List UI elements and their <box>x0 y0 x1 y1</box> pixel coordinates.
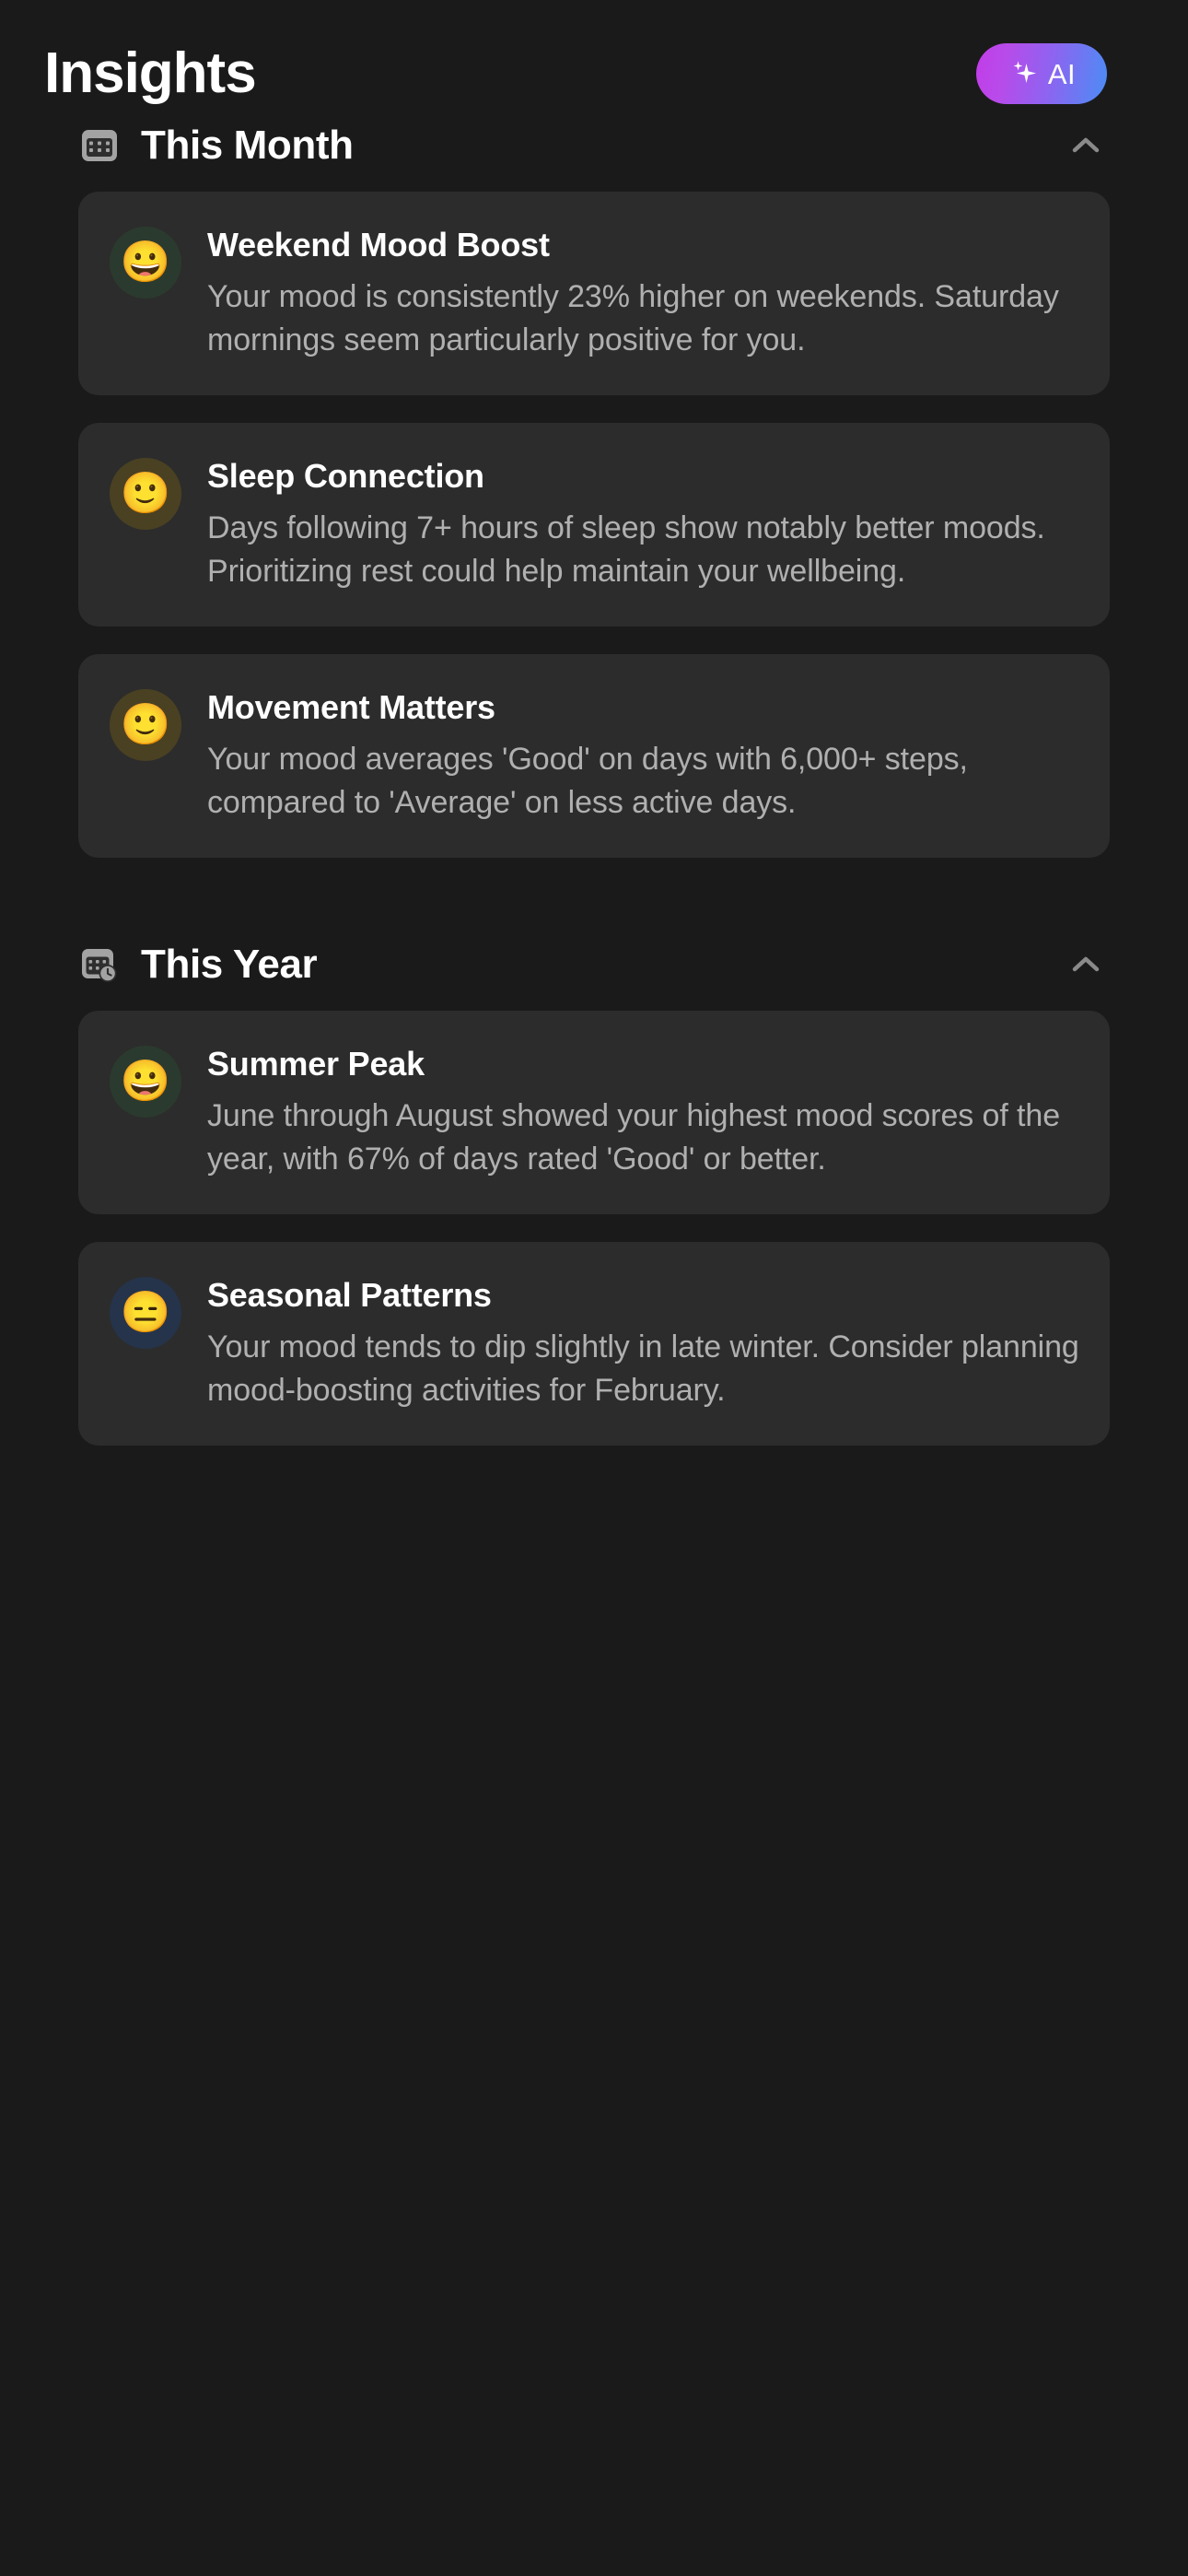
mood-avatar: 🙂 <box>110 458 181 530</box>
insight-card[interactable]: 🙂 Movement Matters Your mood averages 'G… <box>78 654 1110 858</box>
insight-card-description: Your mood is consistently 23% higher on … <box>207 275 1080 362</box>
insight-card-body: Summer Peak June through August showed y… <box>207 1042 1080 1181</box>
calendar-clock-icon <box>78 943 121 986</box>
section-title: This Month <box>141 125 1066 166</box>
insight-card[interactable]: 😀 Weekend Mood Boost Your mood is consis… <box>78 192 1110 395</box>
chevron-up-icon[interactable] <box>1066 944 1106 985</box>
section-this-year: This Year 😀 Summer Peak June through Aug… <box>78 922 1110 1446</box>
page-title: Insights <box>41 45 256 102</box>
section-title: This Year <box>141 944 1066 985</box>
insights-screen: Insights AI <box>0 0 1188 2576</box>
sparkle-icon <box>1007 58 1039 89</box>
mood-avatar: 😑 <box>110 1277 181 1349</box>
mood-avatar: 🙂 <box>110 689 181 761</box>
insight-card-body: Sleep Connection Days following 7+ hours… <box>207 454 1080 593</box>
insight-card-description: Days following 7+ hours of sleep show no… <box>207 507 1080 593</box>
insight-card[interactable]: 😑 Seasonal Patterns Your mood tends to d… <box>78 1242 1110 1446</box>
insight-card-list: 😀 Weekend Mood Boost Your mood is consis… <box>78 192 1110 858</box>
page-header: Insights AI <box>0 0 1188 103</box>
chevron-up-icon[interactable] <box>1066 125 1106 166</box>
insight-card-body: Seasonal Patterns Your mood tends to dip… <box>207 1273 1080 1412</box>
insights-content: This Month 😀 Weekend Mood Boost Your moo… <box>0 103 1188 1446</box>
ai-badge-label: AI <box>1048 60 1076 88</box>
ai-assistant-button[interactable]: AI <box>976 43 1107 104</box>
insight-card-title: Sleep Connection <box>207 456 1080 496</box>
section-this-month: This Month 😀 Weekend Mood Boost Your moo… <box>78 103 1110 858</box>
insight-card-title: Movement Matters <box>207 687 1080 727</box>
insight-card-title: Summer Peak <box>207 1044 1080 1083</box>
calendar-icon <box>78 124 121 167</box>
insight-card-description: Your mood tends to dip slightly in late … <box>207 1326 1080 1412</box>
insight-card-list: 😀 Summer Peak June through August showed… <box>78 1011 1110 1446</box>
insight-card-body: Movement Matters Your mood averages 'Goo… <box>207 685 1080 825</box>
insight-card-description: June through August showed your highest … <box>207 1095 1080 1181</box>
insight-card[interactable]: 😀 Summer Peak June through August showed… <box>78 1011 1110 1214</box>
insight-card-title: Seasonal Patterns <box>207 1275 1080 1315</box>
insight-card-body: Weekend Mood Boost Your mood is consiste… <box>207 223 1080 362</box>
section-header-this-year[interactable]: This Year <box>78 922 1110 1007</box>
mood-avatar: 😀 <box>110 1046 181 1118</box>
insight-card-title: Weekend Mood Boost <box>207 225 1080 264</box>
insight-card[interactable]: 🙂 Sleep Connection Days following 7+ hou… <box>78 423 1110 626</box>
mood-avatar: 😀 <box>110 227 181 299</box>
insight-card-description: Your mood averages 'Good' on days with 6… <box>207 738 1080 825</box>
section-header-this-month[interactable]: This Month <box>78 103 1110 188</box>
